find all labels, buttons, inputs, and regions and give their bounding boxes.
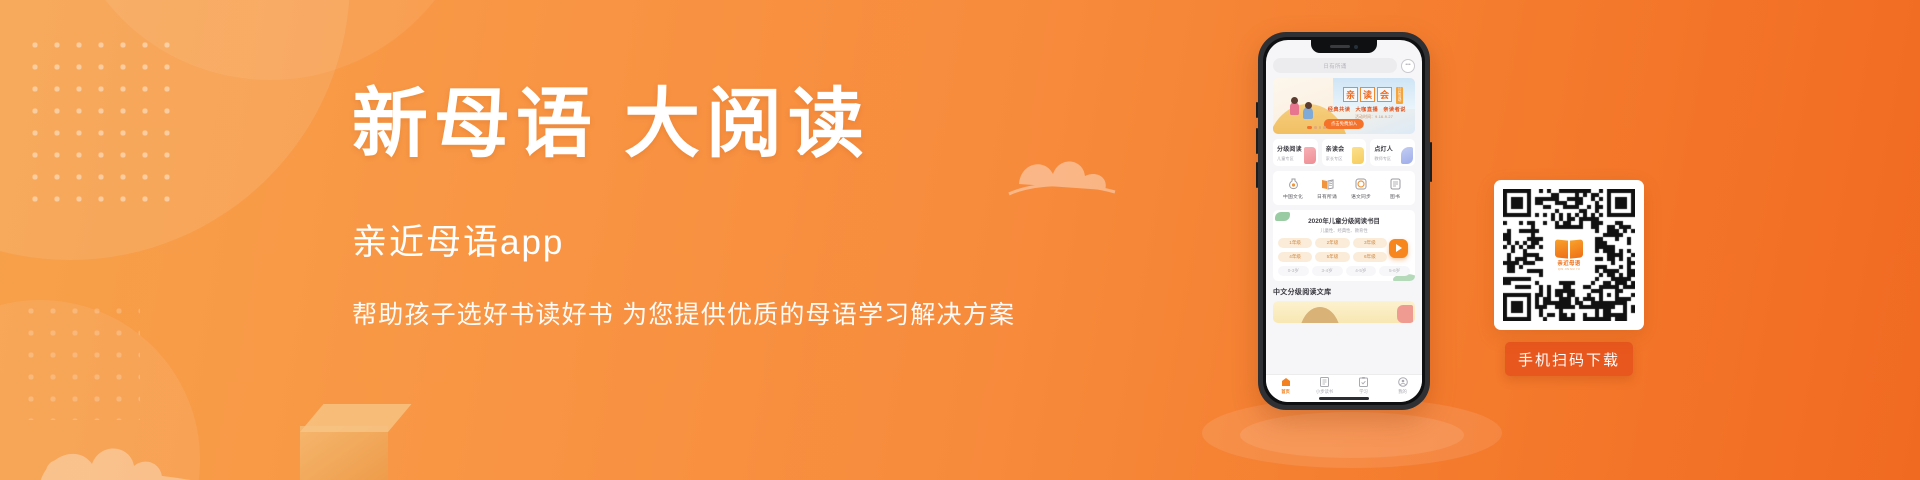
tab-home[interactable]: 首页 [1266,376,1305,395]
qr-logo-en: QIN JIN MU YU [1558,268,1580,271]
grade-chip[interactable]: 4年级 [1278,252,1312,262]
decorative-dot-grid [24,34,174,206]
hero-title-char-2: 读 [1360,87,1375,102]
message-icon[interactable]: ••• [1401,59,1415,73]
phone-notch [1311,40,1377,53]
age-chip[interactable]: 4-5岁 [1346,266,1377,276]
qr-card: 亲近母语 QIN JIN MU YU [1494,180,1644,330]
phone-bezel: 日有所诵 ••• 亲 读 会 公益活动 [1263,37,1425,405]
tab-label: 首页 [1281,389,1290,395]
clipboard-check-icon [1358,376,1369,387]
age-chip[interactable]: 5-6岁 [1379,266,1410,276]
download-button[interactable]: 手机扫码下载 [1505,342,1633,376]
search-row: 日有所诵 ••• [1273,58,1415,73]
carousel-dot-2[interactable] [1314,126,1317,129]
category-card-teacher-zone[interactable]: 点灯人 教师专区 [1370,139,1415,166]
people-icon [1401,147,1413,164]
app-content: 日有所诵 ••• 亲 读 会 公益活动 [1266,40,1422,323]
grade-chip[interactable]: 2年级 [1315,238,1349,248]
vase-icon [1287,177,1300,190]
phone-screen: 日有所诵 ••• 亲 读 会 公益活动 [1266,40,1422,402]
decorative-cube [300,426,388,480]
grade-chip[interactable]: 3年级 [1353,238,1387,248]
grade-chip[interactable]: 1年级 [1278,238,1312,248]
grade-chip[interactable]: 6年级 [1353,252,1387,262]
phone-mockup: 日有所诵 ••• 亲 读 会 公益活动 [1258,32,1430,410]
open-book-icon [1321,177,1334,190]
carousel-dot-1[interactable] [1307,126,1312,129]
grade-chips-row-1: 1年级 2年级 3年级 [1278,238,1410,248]
grade-chip[interactable]: 5年级 [1315,252,1349,262]
quick-link-label: 中国文化 [1283,193,1303,200]
quick-link-chinese-culture[interactable]: 中国文化 [1276,177,1310,200]
speaker-icon [1330,45,1350,48]
hero-subtitle-item-2: 大咖直播 [1355,106,1378,113]
qr-code[interactable]: 亲近母语 QIN JIN MU YU [1503,189,1635,321]
quick-link-label: 语文同步 [1351,193,1371,200]
search-placeholder: 日有所诵 [1323,62,1346,70]
hero-title-char-1: 亲 [1343,87,1358,102]
bookmark-icon [1304,147,1316,164]
tab-label: 小步读书 [1316,389,1333,395]
booklist-section: 2020年儿童分级阅读书目 儿童性、经典性、教育性 1年级 2年级 3年级 4年… [1273,210,1415,281]
category-card-parent-club[interactable]: 亲读会 家长专区 [1322,139,1367,166]
decorative-circle-top-left [0,0,350,260]
promo-banner: 新母语大阅读 亲近母语app 帮助孩子选好书读好书 为您提供优质的母语学习解决方… [0,0,1920,480]
tab-reading[interactable]: 小步读书 [1305,376,1344,395]
front-camera-icon [1354,45,1358,49]
hero-carousel[interactable]: 亲 读 会 公益活动 经典共读 大咖直播 亲读者说 活动时间：9.16-9.27… [1273,78,1415,134]
booklist-subtitle: 儿童性、经典性、教育性 [1278,228,1410,234]
tagline: 帮助孩子选好书读好书 为您提供优质的母语学习解决方案 [352,295,1052,331]
quick-link-books[interactable]: 图书 [1378,177,1412,200]
phone-shadow-ellipse-inner [1240,412,1464,458]
phone-mute-button[interactable] [1256,102,1258,118]
page-title: 新母语大阅读 [352,86,1052,162]
leaf-decoration-icon [1275,212,1290,221]
hero-subtitle-item-3: 亲读者说 [1383,106,1406,113]
book-icon [1389,177,1402,190]
hero-child-2-illustration [1303,107,1313,119]
library-book-decoration [1397,305,1413,323]
category-cards: 分级阅读 儿童专区 亲读会 家长专区 点灯人 教师专区 [1273,139,1415,166]
decorative-circle-top-left-2 [60,0,480,80]
quick-links-grid: 中国文化 日有所诵 语文同步 [1273,171,1415,205]
cloud-motif-left-icon [30,412,240,480]
hero-child-1-illustration [1290,102,1299,115]
copy-block: 新母语大阅读 亲近母语app 帮助孩子选好书读好书 为您提供优质的母语学习解决方… [352,86,1052,331]
library-arc-decoration [1299,307,1341,323]
phone-volume-down-button[interactable] [1256,162,1258,188]
hero-vertical-tag: 公益活动 [1396,87,1403,104]
grade-chips-row-2: 4年级 5年级 6年级 [1278,252,1410,262]
phone-power-button[interactable] [1430,142,1432,182]
decorative-dot-grid-lower [20,300,140,420]
age-chip[interactable]: 0-3岁 [1278,266,1309,276]
tab-label: 我的 [1398,389,1407,395]
tab-study[interactable]: 学习 [1344,376,1383,395]
phone-volume-up-button[interactable] [1256,128,1258,154]
qr-download-block: 亲近母语 QIN JIN MU YU 手机扫码下载 [1494,180,1644,376]
quick-link-textbook-sync[interactable]: 语文同步 [1344,177,1378,200]
tab-profile[interactable]: 我的 [1383,376,1422,395]
hero-title-char-3: 会 [1377,87,1392,102]
hero-title: 亲 读 会 公益活动 [1343,87,1403,104]
hero-subtitle: 经典共读 大咖直播 亲读者说 [1328,106,1406,113]
bookmark-icon [1352,147,1364,164]
home-icon [1280,376,1291,387]
circle-square-icon [1355,177,1368,190]
headline-part-1: 新母语 [352,79,598,168]
carousel-dots[interactable] [1307,126,1326,129]
hero-join-button[interactable]: 点击免费加入 [1324,119,1364,129]
age-chips-row: 0-3岁 3-4岁 4-5岁 5-6岁 [1278,266,1410,276]
library-section-title: 中文分级阅读文库 [1273,287,1415,297]
search-input[interactable]: 日有所诵 [1273,58,1397,73]
library-banner[interactable] [1273,301,1415,323]
person-icon [1397,376,1408,387]
decorative-circle-bottom-left [0,300,200,480]
category-card-graded-reading[interactable]: 分级阅读 儿童专区 [1273,139,1318,166]
hero-subtitle-item-1: 经典共读 [1328,106,1351,113]
qr-center-logo: 亲近母语 QIN JIN MU YU [1549,235,1589,275]
booklist-title: 2020年儿童分级阅读书目 [1278,216,1410,225]
app-name-subtitle: 亲近母语app [352,214,1052,265]
quick-link-daily-recitation[interactable]: 日有所诵 [1310,177,1344,200]
carousel-dot-4[interactable] [1323,126,1326,129]
qr-logo-name: 亲近母语 [1557,259,1580,267]
tab-label: 学习 [1359,389,1368,395]
list-icon [1319,376,1330,387]
quick-link-label: 图书 [1390,193,1400,200]
age-chip[interactable]: 3-4岁 [1312,266,1343,276]
headline-part-2: 大阅读 [624,79,870,168]
carousel-dot-3[interactable] [1319,126,1322,129]
open-book-logo-icon [1555,240,1583,258]
quick-link-label: 日有所诵 [1317,193,1337,200]
